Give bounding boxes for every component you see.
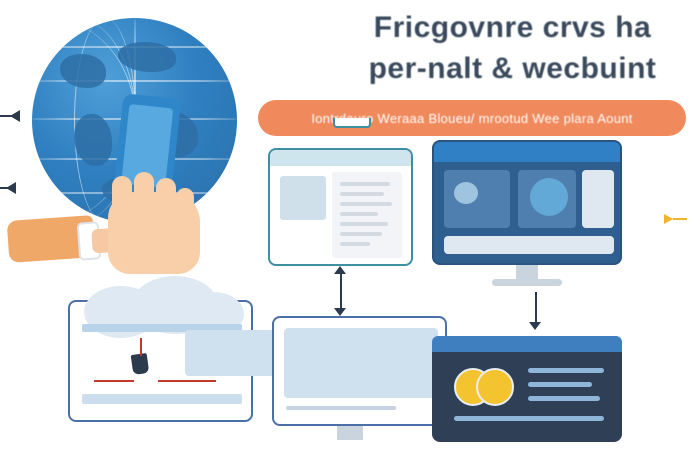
monitor-base [492, 279, 562, 286]
card-e-line-4 [454, 416, 604, 421]
arrow-a-to-d-shaft [340, 274, 342, 308]
monitor-content-card [272, 316, 447, 426]
card-c-footer [82, 394, 242, 404]
finger-pinky [176, 188, 194, 228]
tag-string [140, 338, 142, 356]
card-a-thumbnail [280, 176, 326, 220]
card-b-titlebar [434, 142, 620, 162]
arrow-a-to-d-head-up [334, 266, 346, 274]
title-block: Fricgovnre crvs ha per-nalt & wecbuint [340, 8, 685, 89]
title-line-1: Fricgovnre crvs ha [340, 8, 685, 49]
coin-icon-b [476, 368, 514, 406]
right-edge-line [673, 218, 687, 220]
card-b-panel-right [582, 170, 614, 228]
card-d-neck [337, 426, 363, 440]
red-line-left [94, 380, 134, 382]
card-b-panel-left [444, 170, 510, 228]
finger-index [112, 176, 132, 222]
card-b-footer [444, 236, 614, 254]
card-e-line-3 [528, 396, 600, 401]
card-a-titlebar [270, 150, 411, 166]
arrow-b-to-e-shaft [535, 292, 537, 322]
left-edge-line-2 [0, 187, 10, 189]
desktop-monitor-card [432, 140, 622, 265]
card-e-titlebar [432, 336, 622, 352]
card-e-line-2 [528, 382, 592, 387]
finger-ring [156, 178, 176, 224]
arrow-b-to-e-head [529, 322, 541, 330]
title-line-2: per-nalt & wecbuint [340, 49, 685, 90]
document-browser-card [268, 148, 413, 266]
finger-middle [134, 172, 154, 222]
card-b-blob-icon [454, 182, 478, 204]
price-tag-icon [131, 353, 150, 375]
red-line-right [158, 380, 216, 382]
document-icon [332, 172, 402, 258]
card-b-circle-icon [530, 178, 568, 216]
card-e-line-1 [528, 368, 604, 373]
card-c-to-d-bridge [185, 330, 277, 376]
card-a-stand [333, 118, 371, 128]
left-edge-line [0, 115, 12, 117]
arrow-a-to-d-head-down [334, 308, 346, 316]
diagram-canvas: Fricgovnre crvs ha per-nalt & wecbuint I… [0, 0, 700, 470]
banner-pill: Iontrdauro Weraaa Bloueu/ mrootud Wee pl… [258, 100, 686, 136]
right-edge-mark-icon [664, 214, 673, 224]
dark-list-card [432, 336, 622, 442]
card-d-screen [284, 328, 438, 398]
